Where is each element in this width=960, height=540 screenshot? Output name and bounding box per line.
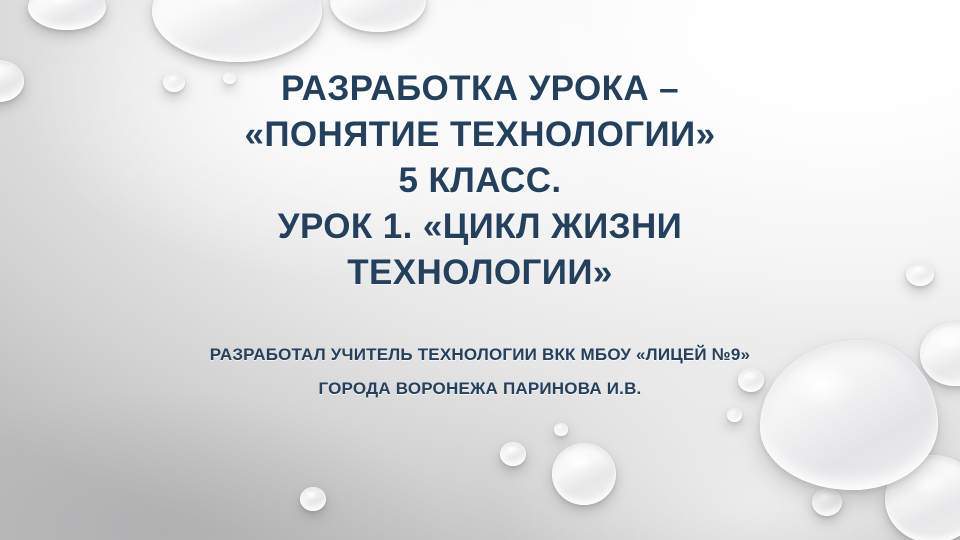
title-line-1: РАЗРАБОТКА УРОКА – xyxy=(0,66,960,112)
title-line-5: ТЕХНОЛОГИИ» xyxy=(0,250,960,296)
subtitle-line-1: РАЗРАБОТАЛ УЧИТЕЛЬ ТЕХНОЛОГИИ ВКК МБОУ «… xyxy=(0,338,960,372)
slide-title: РАЗРАБОТКА УРОКА – «ПОНЯТИЕ ТЕХНОЛОГИИ» … xyxy=(0,66,960,296)
title-slide: РАЗРАБОТКА УРОКА – «ПОНЯТИЕ ТЕХНОЛОГИИ» … xyxy=(0,0,960,540)
slide-subtitle: РАЗРАБОТАЛ УЧИТЕЛЬ ТЕХНОЛОГИИ ВКК МБОУ «… xyxy=(0,338,960,406)
title-line-3: 5 КЛАСС. xyxy=(0,158,960,204)
subtitle-line-2: ГОРОДА ВОРОНЕЖА ПАРИНОВА И.В. xyxy=(0,372,960,406)
slide-text-layer: РАЗРАБОТКА УРОКА – «ПОНЯТИЕ ТЕХНОЛОГИИ» … xyxy=(0,0,960,540)
title-line-2: «ПОНЯТИЕ ТЕХНОЛОГИИ» xyxy=(0,112,960,158)
title-line-4: УРОК 1. «ЦИКЛ ЖИЗНИ xyxy=(0,204,960,250)
